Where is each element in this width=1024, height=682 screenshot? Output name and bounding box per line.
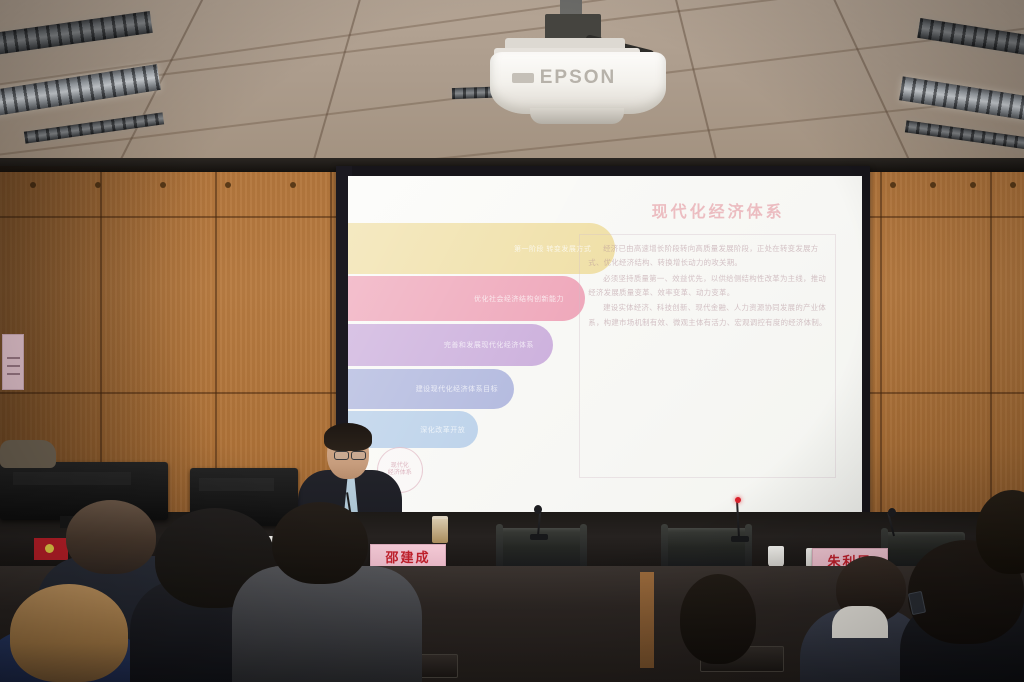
slide-title: 现代化经济体系 xyxy=(584,198,851,222)
slide-paragraph: 必须坚持质量第一、效益优先，以供给侧结构性改革为主线，推动经济发展质量变革、效率… xyxy=(588,272,827,301)
presentation-slide: 第一阶段 转变发展方式 优化社会经济结构创新能力 完善和发展现代化经济体系 建设… xyxy=(348,176,862,515)
ceiling-light-fixture xyxy=(0,11,153,55)
audience-head xyxy=(272,502,368,584)
audience-head xyxy=(66,500,156,574)
slide-body-textbox: 经济已由高速增长阶段转向高质量发展阶段，正处在转变发展方式、优化经济结构、转换增… xyxy=(579,234,836,478)
drinking-glass xyxy=(432,516,448,543)
ceiling-light-fixture xyxy=(917,18,1024,58)
chevron-band: 建设现代化经济体系目标 xyxy=(348,369,514,409)
speaker-hair xyxy=(324,423,372,451)
microphone-head-icon xyxy=(888,508,896,517)
chevron-band-label: 完善和发展现代化经济体系 xyxy=(444,340,534,350)
microphone-base xyxy=(530,534,548,540)
table-wood-trim xyxy=(640,572,654,668)
speaker-glasses-icon xyxy=(334,451,349,460)
microphone-head-icon xyxy=(534,505,542,514)
chevron-band: 第一阶段 转变发展方式 xyxy=(348,223,615,273)
microphone-led-indicator xyxy=(735,497,741,503)
microphone-base xyxy=(731,536,749,542)
slide-chevron-graphic: 第一阶段 转变发展方式 优化社会经济结构创新能力 完善和发展现代化经济体系 建设… xyxy=(348,223,615,487)
ceiling-light-fixture xyxy=(905,120,1024,151)
projector-body: EPSON xyxy=(490,52,666,114)
bag-on-table xyxy=(0,440,56,468)
audience-head xyxy=(680,574,756,664)
ceiling-light-fixture xyxy=(899,76,1024,123)
chevron-band-label: 建设现代化经济体系目标 xyxy=(416,384,499,394)
placard-name-text: 邵建成 xyxy=(385,547,430,566)
chevron-band-label: 优化社会经济结构创新能力 xyxy=(474,294,564,304)
slide-paragraph: 经济已由高速增长阶段转向高质量发展阶段，正处在转变发展方式、优化经济结构、转换增… xyxy=(588,242,827,271)
ceiling-light-fixture xyxy=(24,112,164,143)
circle-label-line2: 经济体系 xyxy=(388,470,412,477)
paper-cup xyxy=(768,546,784,567)
chevron-band: 优化社会经济结构创新能力 xyxy=(348,276,585,321)
chevron-band: 完善和发展现代化经济体系 xyxy=(348,324,553,366)
audience-head xyxy=(10,584,128,682)
chevron-band-label: 深化改革开放 xyxy=(420,425,465,435)
projector-lens xyxy=(530,108,624,124)
slide-paragraph: 建设实体经济、科技创新、现代金融、人力资源协同发展的产业体系，构建市场机制有效、… xyxy=(588,301,827,330)
wall-notice-sign xyxy=(2,334,24,390)
audience-white-collar xyxy=(832,606,888,638)
projector-brand-label: EPSON xyxy=(490,67,666,89)
projection-screen-surface: 第一阶段 转变发展方式 优化社会经济结构创新能力 完善和发展现代化经济体系 建设… xyxy=(348,176,862,515)
projection-screen-frame: 第一阶段 转变发展方式 优化社会经济结构创新能力 完善和发展现代化经济体系 建设… xyxy=(336,166,870,522)
conference-room-photo: EPSON 第一阶段 转 xyxy=(0,0,1024,682)
red-sign xyxy=(34,538,68,560)
speaker-glasses-icon xyxy=(351,451,366,460)
